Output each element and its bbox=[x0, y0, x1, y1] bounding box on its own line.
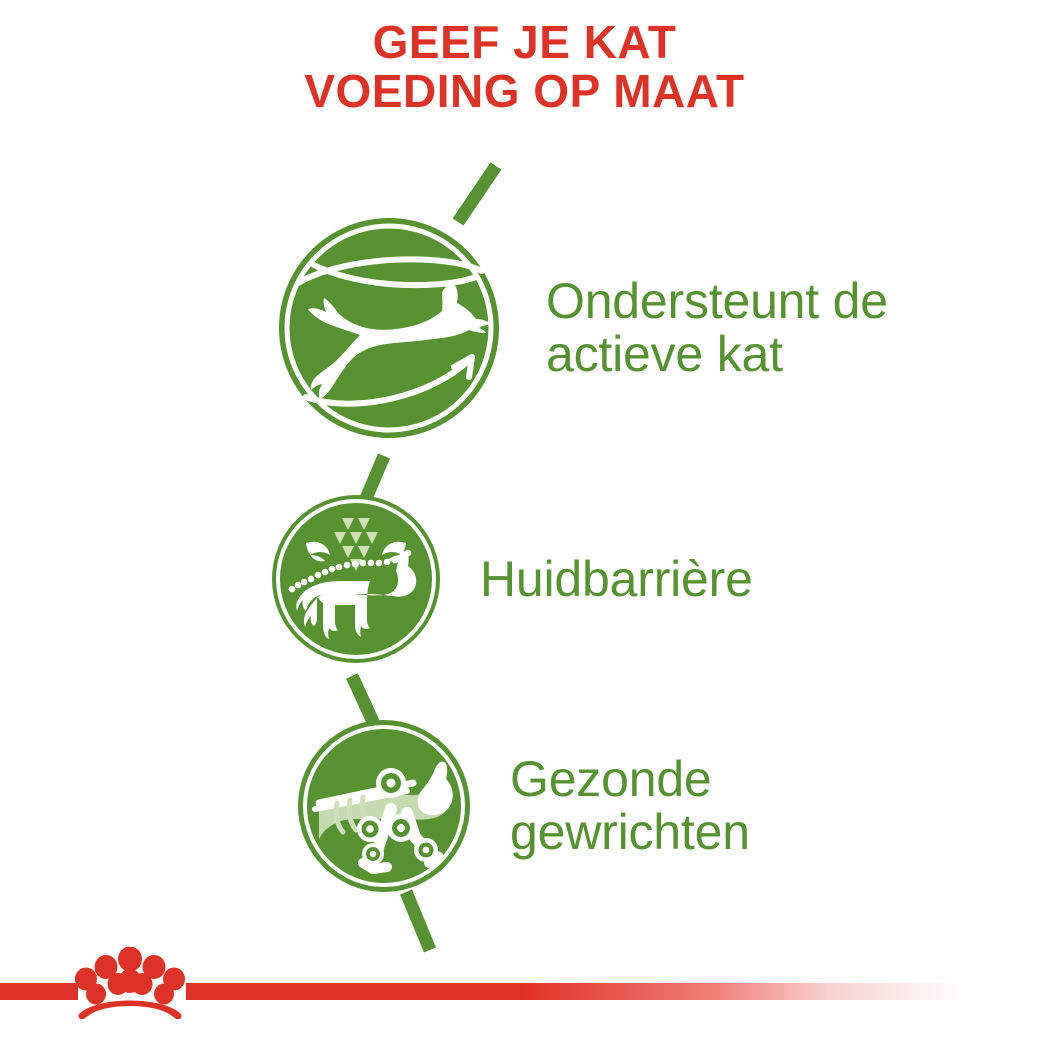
cat-joints-skeleton-icon bbox=[295, 717, 473, 895]
cat-skin-barrier-icon bbox=[270, 493, 442, 665]
promo-page: GEEF JE KAT VOEDING OP MAAT bbox=[0, 0, 1049, 1049]
footer bbox=[0, 929, 1049, 1049]
benefit-3-label: Gezonde gewrichten bbox=[510, 753, 750, 859]
benefit-2-label: Huidbarrière bbox=[480, 553, 753, 606]
benefit-1-label: Ondersteunt de actieve kat bbox=[546, 275, 888, 381]
jumping-cat-icon bbox=[276, 215, 502, 441]
page-title: GEEF JE KAT VOEDING OP MAAT bbox=[0, 18, 1049, 116]
royal-canin-crown-icon bbox=[72, 947, 188, 1019]
benefit-item-healthy-joints[interactable]: Gezonde gewrichten bbox=[295, 717, 750, 895]
page-title-line-2: VOEDING OP MAAT bbox=[0, 67, 1049, 116]
benefit-1-badge bbox=[276, 215, 502, 441]
page-title-line-1: GEEF JE KAT bbox=[0, 18, 1049, 67]
benefit-item-skin-barrier[interactable]: Huidbarrière bbox=[270, 493, 753, 665]
footer-bar-right bbox=[186, 983, 986, 1000]
benefit-2-badge bbox=[270, 493, 442, 665]
footer-bar-left bbox=[0, 983, 78, 1000]
benefit-item-active-cat[interactable]: Ondersteunt de actieve kat bbox=[276, 215, 888, 441]
benefit-3-badge bbox=[295, 717, 473, 895]
